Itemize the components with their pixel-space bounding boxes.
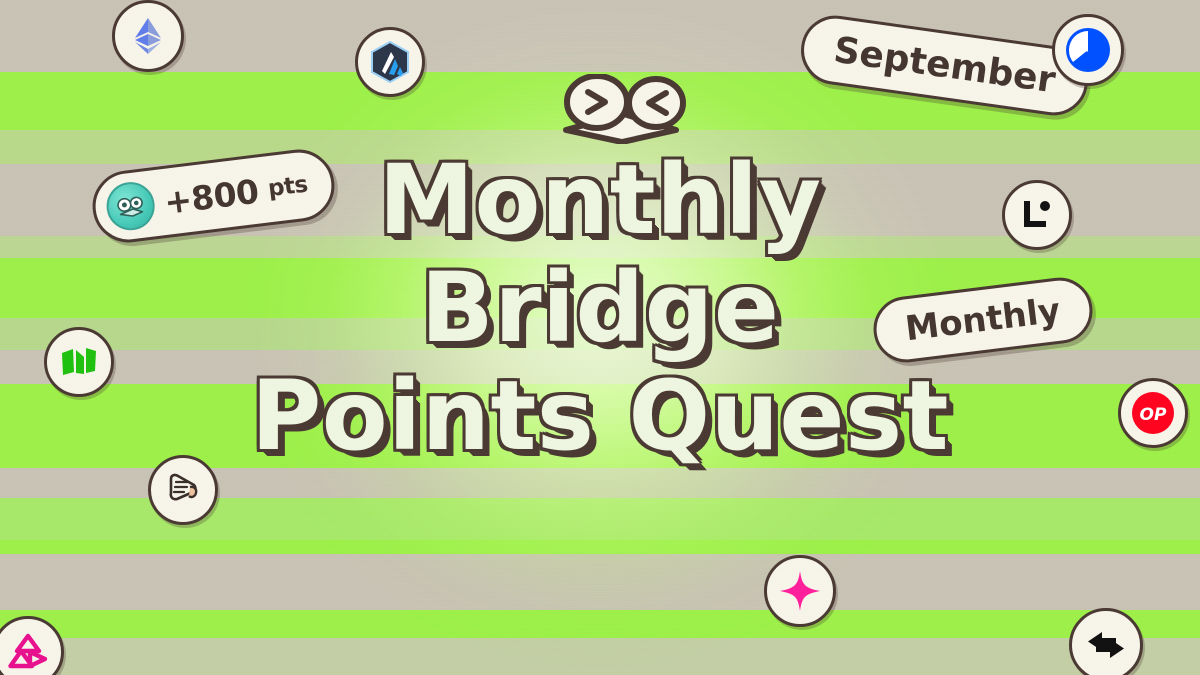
mascot-face-icon <box>104 179 157 232</box>
background-stripe <box>0 638 1200 675</box>
mascot-face-icon <box>552 74 692 144</box>
base-icon <box>1052 14 1124 86</box>
background-stripe <box>0 350 1200 384</box>
points-value: +800 <box>162 171 261 221</box>
background-stripe <box>0 554 1200 610</box>
svg-text:OP: OP <box>1140 405 1167 425</box>
optimism-icon: OP <box>1118 378 1188 448</box>
scroll-icon <box>148 455 218 525</box>
ethereum-icon <box>112 0 184 72</box>
linea-icon <box>1002 180 1072 250</box>
promo-banner: Monthly Bridge Points Quest +800 pts Sep… <box>0 0 1200 675</box>
arbitrum-icon <box>355 27 425 97</box>
background-stripe <box>0 540 1200 554</box>
background-stripe <box>0 610 1200 638</box>
sparkle-icon <box>764 555 836 627</box>
mantle-icon <box>44 327 114 397</box>
cadence-label: Monthly <box>903 291 1062 350</box>
points-unit: pts <box>267 172 310 203</box>
bridge-swap-icon <box>1069 608 1143 675</box>
